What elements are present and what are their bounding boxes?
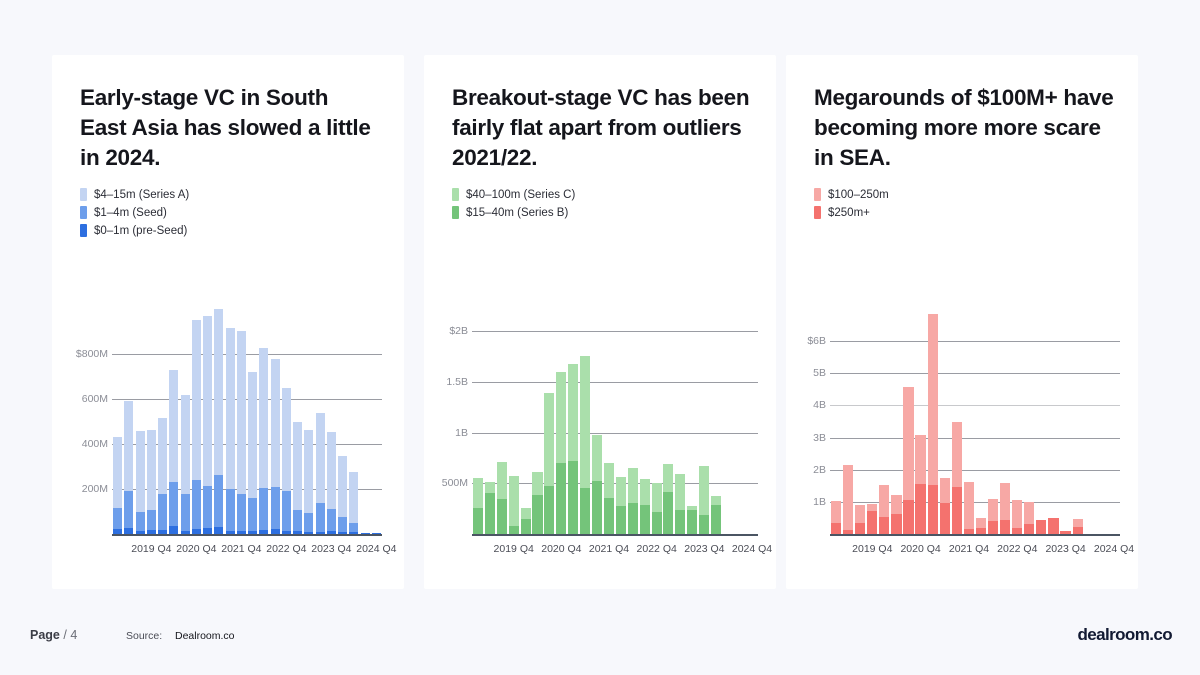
x-axis-baseline bbox=[830, 534, 1120, 536]
bar-segment bbox=[473, 508, 483, 534]
y-axis-tick-label: 3B bbox=[788, 432, 826, 444]
bar-segment bbox=[147, 530, 156, 534]
bar-segment bbox=[532, 472, 542, 495]
bar-segment bbox=[304, 532, 313, 534]
bar-segment bbox=[855, 523, 865, 534]
bar-segment bbox=[237, 494, 246, 531]
x-axis-tick-label: 2019 Q4 bbox=[852, 543, 892, 555]
bar-segment bbox=[867, 511, 877, 534]
bar-column[interactable] bbox=[963, 309, 975, 534]
bar-segment bbox=[964, 529, 974, 534]
bar-column[interactable] bbox=[567, 301, 579, 534]
bar-segment bbox=[192, 480, 201, 529]
bar-column[interactable] bbox=[123, 309, 134, 534]
bar-segment bbox=[675, 474, 685, 510]
x-axis-tick-label: 2022 Q4 bbox=[637, 543, 677, 555]
x-axis-tick-label: 2019 Q4 bbox=[494, 543, 534, 555]
bar-segment bbox=[259, 530, 268, 534]
bar-segment bbox=[497, 499, 507, 534]
bar-segment bbox=[903, 500, 913, 534]
bar-segment bbox=[640, 505, 650, 534]
bar-segment bbox=[181, 494, 190, 531]
legend-swatch-icon bbox=[80, 188, 87, 201]
bar-segment bbox=[521, 508, 531, 520]
bar-segment bbox=[327, 509, 336, 531]
bar-segment bbox=[1000, 483, 1010, 520]
bar-segment bbox=[158, 530, 167, 534]
bar-column[interactable] bbox=[698, 301, 710, 534]
bar-column[interactable] bbox=[746, 301, 758, 534]
bar-column[interactable] bbox=[1011, 309, 1023, 534]
legend-item-label: $1–4m (Seed) bbox=[94, 207, 167, 219]
bar-segment bbox=[1036, 520, 1046, 534]
bar-segment bbox=[248, 531, 257, 534]
bar-segment bbox=[485, 493, 495, 534]
bar-segment bbox=[124, 491, 133, 528]
bar-segment bbox=[964, 482, 974, 530]
bar-column[interactable] bbox=[508, 301, 520, 534]
x-axis-tick-label: 2022 Q4 bbox=[997, 543, 1037, 555]
bar-segment bbox=[1048, 518, 1058, 534]
bar-column[interactable] bbox=[1035, 309, 1047, 534]
bar-column[interactable] bbox=[975, 309, 987, 534]
legend-item-label: $15–40m (Series B) bbox=[466, 207, 568, 219]
bar-segment bbox=[226, 489, 235, 531]
bar-segment bbox=[497, 462, 507, 499]
bar-segment bbox=[1073, 519, 1083, 527]
bar-segment bbox=[1000, 520, 1010, 534]
bar-segment bbox=[509, 526, 519, 534]
x-axis-tick-label: 2023 Q4 bbox=[311, 543, 351, 555]
bar-column[interactable] bbox=[1072, 309, 1084, 534]
bar-segment bbox=[316, 532, 325, 534]
slide-footer: Page / 4 Source: Dealroom.co dealroom.co bbox=[0, 615, 1200, 675]
bar-segment bbox=[214, 475, 223, 527]
legend-item[interactable]: $15–40m (Series B) bbox=[452, 205, 752, 221]
bar-segment bbox=[316, 413, 325, 503]
bar-segment bbox=[628, 468, 638, 502]
bar-column[interactable] bbox=[603, 301, 615, 534]
bar-segment bbox=[136, 431, 145, 513]
bar-segment bbox=[192, 529, 201, 534]
bar-column[interactable] bbox=[135, 309, 146, 534]
dealroom-logo: dealroom.co bbox=[1078, 625, 1172, 645]
bar-column[interactable] bbox=[326, 309, 337, 534]
y-axis-tick-label: $800M bbox=[54, 348, 108, 360]
y-axis-tick-label: $2B bbox=[426, 325, 468, 337]
bar-column[interactable] bbox=[639, 301, 651, 534]
legend-item[interactable]: $1–4m (Seed) bbox=[80, 205, 380, 221]
bar-segment bbox=[316, 503, 325, 532]
bar-column[interactable] bbox=[270, 309, 281, 534]
bar-column[interactable] bbox=[247, 309, 258, 534]
bar-segment bbox=[915, 484, 925, 534]
bar-segment bbox=[226, 328, 235, 489]
bar-segment bbox=[879, 517, 889, 534]
bar-segment bbox=[1073, 527, 1083, 534]
bar-segment bbox=[891, 495, 901, 514]
bar-segment bbox=[293, 531, 302, 534]
panel-title: Megarounds of $100M+ have becoming more … bbox=[814, 83, 1114, 173]
legend-item-label: $40–100m (Series C) bbox=[466, 189, 575, 201]
bar-column[interactable] bbox=[722, 301, 734, 534]
page-label: Page bbox=[30, 628, 60, 642]
legend-swatch-icon bbox=[814, 188, 821, 201]
chart-legend: $4–15m (Series A)$1–4m (Seed)$0–1m (pre-… bbox=[80, 187, 380, 239]
x-axis-tick-label: 2024 Q4 bbox=[1094, 543, 1134, 555]
bar-column[interactable] bbox=[987, 309, 999, 534]
bar-segment bbox=[988, 499, 998, 522]
bar-segment bbox=[675, 510, 685, 534]
legend-item-label: $4–15m (Series A) bbox=[94, 189, 189, 201]
x-axis-tick-label: 2021 Q4 bbox=[221, 543, 261, 555]
bar-segment bbox=[532, 495, 542, 535]
x-axis-tick-label: 2020 Q4 bbox=[900, 543, 940, 555]
bar-column[interactable] bbox=[236, 309, 247, 534]
bar-column[interactable] bbox=[348, 309, 359, 534]
bar-column[interactable] bbox=[1084, 309, 1096, 534]
bar-column[interactable] bbox=[360, 309, 371, 534]
bar-column[interactable] bbox=[1023, 309, 1035, 534]
legend-item[interactable]: $250m+ bbox=[814, 205, 1114, 221]
bar-segment bbox=[113, 437, 122, 508]
bar-segment bbox=[663, 492, 673, 534]
x-axis-tick-label: 2021 Q4 bbox=[589, 543, 629, 555]
y-axis-tick-label: 200M bbox=[54, 483, 108, 495]
bar-segment bbox=[203, 528, 212, 534]
legend-item[interactable]: $0–1m (pre-Seed) bbox=[80, 223, 380, 239]
bar-column[interactable] bbox=[520, 301, 532, 534]
bar-segment bbox=[293, 510, 302, 532]
bar-column[interactable] bbox=[168, 309, 179, 534]
bar-column[interactable] bbox=[663, 301, 675, 534]
y-axis-tick-label: 1B bbox=[788, 496, 826, 508]
bar-segment bbox=[903, 387, 913, 500]
panel-inner-2: Megarounds of $100M+ have becoming more … bbox=[786, 55, 1138, 589]
bar-segment bbox=[640, 479, 650, 504]
y-axis-tick-label: 1.5B bbox=[426, 376, 468, 388]
bar-column[interactable] bbox=[1047, 309, 1059, 534]
bar-segment bbox=[663, 464, 673, 492]
bar-segment bbox=[568, 364, 578, 461]
bar-segment bbox=[248, 498, 257, 532]
bar-series-group bbox=[472, 301, 758, 534]
bar-column[interactable] bbox=[999, 309, 1011, 534]
page-slash: / bbox=[63, 628, 66, 642]
bar-column[interactable] bbox=[532, 301, 544, 534]
bar-column[interactable] bbox=[281, 309, 292, 534]
bar-segment bbox=[282, 531, 291, 534]
bar-segment bbox=[509, 476, 519, 526]
bar-column[interactable] bbox=[890, 309, 902, 534]
bar-segment bbox=[192, 320, 201, 480]
bar-segment bbox=[349, 472, 358, 523]
panel-title: Early-stage VC in South East Asia has sl… bbox=[80, 83, 380, 173]
plot-region: 200M400M600M$800M2019 Q42020 Q42021 Q420… bbox=[52, 295, 404, 589]
bar-column[interactable] bbox=[710, 301, 722, 534]
bar-segment bbox=[568, 461, 578, 534]
bar-segment bbox=[976, 528, 986, 534]
bar-segment bbox=[843, 530, 853, 534]
x-axis-tick-label: 2021 Q4 bbox=[949, 543, 989, 555]
bar-segment bbox=[628, 503, 638, 534]
bar-column[interactable] bbox=[927, 309, 939, 534]
bar-segment bbox=[652, 483, 662, 512]
bar-segment bbox=[361, 533, 370, 534]
bar-segment bbox=[699, 515, 709, 534]
bar-segment bbox=[259, 488, 268, 530]
bar-segment bbox=[952, 422, 962, 487]
legend-item[interactable]: $100–250m bbox=[814, 187, 1114, 203]
bar-column[interactable] bbox=[615, 301, 627, 534]
bar-segment bbox=[879, 485, 889, 517]
bar-segment bbox=[843, 465, 853, 531]
bar-segment bbox=[580, 356, 590, 488]
bar-segment bbox=[214, 309, 223, 475]
bar-segment bbox=[988, 521, 998, 534]
chart-panel-0: Early-stage VC in South East Asia has sl… bbox=[52, 55, 404, 589]
plot-area: 1B2B3B4B5B$6B2019 Q42020 Q42021 Q42022 Q… bbox=[786, 295, 1138, 589]
bar-segment bbox=[711, 505, 721, 534]
bar-segment bbox=[282, 491, 291, 531]
bar-column[interactable] bbox=[191, 309, 202, 534]
legend-swatch-icon bbox=[814, 206, 821, 219]
bar-segment bbox=[831, 523, 841, 534]
bar-segment bbox=[952, 487, 962, 534]
bar-column[interactable] bbox=[371, 309, 382, 534]
plot-area: 200M400M600M$800M2019 Q42020 Q42021 Q420… bbox=[52, 295, 404, 589]
bar-segment bbox=[940, 478, 950, 503]
y-axis-tick-label: 4B bbox=[788, 399, 826, 411]
bar-segment bbox=[616, 506, 626, 534]
x-axis-tick-label: 2023 Q4 bbox=[684, 543, 724, 555]
x-axis-baseline bbox=[112, 534, 382, 536]
bar-segment bbox=[124, 401, 133, 490]
bar-column[interactable] bbox=[258, 309, 269, 534]
x-axis-tick-label: 2019 Q4 bbox=[131, 543, 171, 555]
bar-segment bbox=[1012, 500, 1022, 528]
bar-column[interactable] bbox=[157, 309, 168, 534]
bar-segment bbox=[349, 523, 358, 533]
bar-column[interactable] bbox=[555, 301, 567, 534]
bar-column[interactable] bbox=[842, 309, 854, 534]
bar-column[interactable] bbox=[854, 309, 866, 534]
legend-item-label: $250m+ bbox=[828, 207, 870, 219]
bar-segment bbox=[158, 494, 167, 531]
bar-segment bbox=[136, 512, 145, 530]
bar-column[interactable] bbox=[146, 309, 157, 534]
bar-column[interactable] bbox=[1108, 309, 1120, 534]
bar-column[interactable] bbox=[951, 309, 963, 534]
bar-segment bbox=[271, 359, 280, 487]
bar-segment bbox=[1012, 528, 1022, 534]
bar-column[interactable] bbox=[651, 301, 663, 534]
bar-segment bbox=[338, 517, 347, 532]
bar-segment bbox=[687, 510, 697, 534]
bar-segment bbox=[338, 456, 347, 517]
bar-segment bbox=[711, 496, 721, 505]
bar-segment bbox=[556, 372, 566, 463]
bar-segment bbox=[304, 513, 313, 531]
legend-item-label: $0–1m (pre-Seed) bbox=[94, 225, 187, 237]
bar-segment bbox=[604, 498, 614, 534]
bar-segment bbox=[976, 518, 986, 528]
bar-segment bbox=[940, 503, 950, 534]
bar-column[interactable] bbox=[830, 309, 842, 534]
panel-inner-1: Breakout-stage VC has been fairly flat a… bbox=[424, 55, 776, 589]
bar-segment bbox=[604, 463, 614, 497]
x-axis-tick-label: 2024 Q4 bbox=[732, 543, 772, 555]
bar-column[interactable] bbox=[213, 309, 224, 534]
y-axis-tick-label: $6B bbox=[788, 335, 826, 347]
legend-swatch-icon bbox=[80, 224, 87, 237]
plot-region: 1B2B3B4B5B$6B2019 Q42020 Q42021 Q42022 Q… bbox=[786, 295, 1138, 589]
bar-segment bbox=[891, 514, 901, 534]
bar-column[interactable] bbox=[902, 309, 914, 534]
bar-column[interactable] bbox=[915, 309, 927, 534]
legend-item[interactable]: $4–15m (Series A) bbox=[80, 187, 380, 203]
bar-column[interactable] bbox=[292, 309, 303, 534]
legend-swatch-icon bbox=[452, 206, 459, 219]
bar-column[interactable] bbox=[337, 309, 348, 534]
bar-segment bbox=[592, 481, 602, 534]
bar-column[interactable] bbox=[543, 301, 555, 534]
chart-legend: $40–100m (Series C)$15–40m (Series B) bbox=[452, 187, 752, 221]
x-axis-tick-label: 2020 Q4 bbox=[541, 543, 581, 555]
bar-segment bbox=[158, 418, 167, 493]
legend-swatch-icon bbox=[452, 188, 459, 201]
bar-segment bbox=[327, 531, 336, 534]
panel-title: Breakout-stage VC has been fairly flat a… bbox=[452, 83, 752, 173]
x-axis-tick-label: 2020 Q4 bbox=[176, 543, 216, 555]
bar-segment bbox=[304, 430, 313, 513]
y-axis-tick-label: 2B bbox=[788, 464, 826, 476]
bar-segment bbox=[147, 510, 156, 530]
bar-segment bbox=[203, 486, 212, 528]
y-axis-tick-label: 1B bbox=[426, 427, 468, 439]
bar-segment bbox=[928, 485, 938, 534]
slide-canvas: Early-stage VC in South East Asia has sl… bbox=[0, 0, 1200, 675]
bar-segment bbox=[169, 482, 178, 526]
bar-segment bbox=[544, 393, 554, 487]
bar-segment bbox=[652, 512, 662, 534]
bar-column[interactable] bbox=[225, 309, 236, 534]
y-axis-tick-label: 600M bbox=[54, 393, 108, 405]
bar-series-group bbox=[830, 309, 1120, 534]
panel-inner-0: Early-stage VC in South East Asia has sl… bbox=[52, 55, 404, 589]
bar-segment bbox=[248, 372, 257, 498]
bar-segment bbox=[580, 488, 590, 534]
plot-area: 500M1B1.5B$2B2019 Q42020 Q42021 Q42022 Q… bbox=[424, 287, 776, 589]
bar-segment bbox=[831, 501, 841, 524]
bar-segment bbox=[699, 466, 709, 515]
bar-segment bbox=[113, 508, 122, 529]
bar-segment bbox=[1060, 531, 1070, 534]
bar-segment bbox=[928, 314, 938, 485]
page-number: Page / 4 bbox=[30, 628, 77, 642]
bar-column[interactable] bbox=[686, 301, 698, 534]
bar-column[interactable] bbox=[866, 309, 878, 534]
bar-segment bbox=[915, 435, 925, 484]
bar-segment bbox=[147, 430, 156, 510]
bar-segment bbox=[113, 529, 122, 534]
bar-segment bbox=[136, 531, 145, 534]
bar-column[interactable] bbox=[303, 309, 314, 534]
bar-segment bbox=[556, 463, 566, 534]
y-axis-tick-label: 400M bbox=[54, 438, 108, 450]
page-total: 4 bbox=[70, 628, 77, 642]
legend-item-label: $100–250m bbox=[828, 189, 889, 201]
bar-column[interactable] bbox=[496, 301, 508, 534]
bar-segment bbox=[282, 388, 291, 491]
bar-column[interactable] bbox=[1059, 309, 1071, 534]
bar-series-group bbox=[112, 309, 382, 534]
bar-column[interactable] bbox=[939, 309, 951, 534]
source-label: Source: bbox=[126, 630, 162, 642]
bar-segment bbox=[592, 435, 602, 481]
bar-column[interactable] bbox=[484, 301, 496, 534]
source-value: Dealroom.co bbox=[175, 630, 235, 642]
bar-column[interactable] bbox=[591, 301, 603, 534]
bar-column[interactable] bbox=[878, 309, 890, 534]
bar-column[interactable] bbox=[579, 301, 591, 534]
x-axis-baseline bbox=[472, 534, 758, 536]
y-axis-tick-label: 5B bbox=[788, 367, 826, 379]
y-axis-tick-label: 500M bbox=[426, 477, 468, 489]
bar-segment bbox=[237, 531, 246, 534]
bar-segment bbox=[544, 486, 554, 534]
legend-item[interactable]: $40–100m (Series C) bbox=[452, 187, 752, 203]
bar-column[interactable] bbox=[674, 301, 686, 534]
bar-segment bbox=[181, 531, 190, 534]
bar-segment bbox=[616, 477, 626, 505]
bar-column[interactable] bbox=[627, 301, 639, 534]
x-axis-tick-label: 2023 Q4 bbox=[1045, 543, 1085, 555]
legend-swatch-icon bbox=[80, 206, 87, 219]
bar-column[interactable] bbox=[734, 301, 746, 534]
bar-segment bbox=[169, 370, 178, 483]
bar-segment bbox=[338, 532, 347, 534]
bar-segment bbox=[521, 519, 531, 534]
bar-segment bbox=[293, 422, 302, 509]
bar-segment bbox=[855, 505, 865, 523]
bar-segment bbox=[226, 531, 235, 534]
bar-segment bbox=[203, 316, 212, 486]
x-axis-tick-label: 2024 Q4 bbox=[356, 543, 396, 555]
bar-segment bbox=[169, 526, 178, 534]
bar-column[interactable] bbox=[1096, 309, 1108, 534]
bar-segment bbox=[271, 529, 280, 534]
bar-segment bbox=[124, 528, 133, 534]
bar-column[interactable] bbox=[180, 309, 191, 534]
bar-segment bbox=[271, 487, 280, 529]
bar-segment bbox=[214, 527, 223, 534]
bar-segment bbox=[372, 533, 381, 534]
bar-column[interactable] bbox=[202, 309, 213, 534]
plot-region: 500M1B1.5B$2B2019 Q42020 Q42021 Q42022 Q… bbox=[424, 287, 776, 589]
bar-segment bbox=[485, 482, 495, 493]
bar-segment bbox=[349, 532, 358, 534]
chart-panel-1: Breakout-stage VC has been fairly flat a… bbox=[424, 55, 776, 589]
chart-panel-2: Megarounds of $100M+ have becoming more … bbox=[786, 55, 1138, 589]
bar-column[interactable] bbox=[112, 309, 123, 534]
bar-segment bbox=[473, 478, 483, 508]
bar-column[interactable] bbox=[472, 301, 484, 534]
bar-column[interactable] bbox=[315, 309, 326, 534]
bar-segment bbox=[327, 432, 336, 509]
bar-segment bbox=[181, 395, 190, 493]
bar-segment bbox=[1024, 502, 1034, 524]
